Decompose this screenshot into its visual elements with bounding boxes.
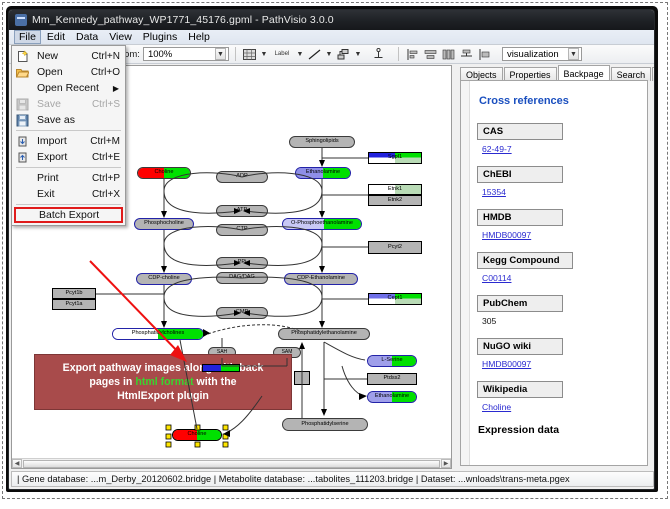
file-menu-exit-accel: Ctrl+X <box>92 189 120 200</box>
node-sphingolipids[interactable]: Sphingolipids <box>289 136 355 148</box>
xref-header-chebi: ChEBI <box>477 166 563 183</box>
xref-value-pubchem: 305 <box>482 316 639 326</box>
tab-objects[interactable]: Objects <box>460 67 503 81</box>
pathvisio-icon <box>15 14 27 26</box>
node-ethanolamine[interactable]: Ethanolamine <box>295 167 351 179</box>
export-icon <box>16 151 29 164</box>
xref-header-hmdb: HMDB <box>477 209 563 226</box>
file-menu-open-recent-label: Open Recent <box>37 82 99 94</box>
file-menu-save-as[interactable]: Save as <box>12 112 125 128</box>
toolbar-separator <box>235 47 236 61</box>
side-panel-tabs: Objects Properties Backpage Search Legen… <box>460 65 655 81</box>
xref-header-nugo: NuGO wiki <box>477 338 563 355</box>
gene-etnk1[interactable]: Etnk1 <box>368 184 422 195</box>
file-menu-open-accel: Ctrl+O <box>91 67 120 78</box>
file-menu-export[interactable]: Export Ctrl+E <box>12 149 125 165</box>
menu-edit[interactable]: Edit <box>42 30 70 44</box>
side-panel: Objects Properties Backpage Search Legen… <box>456 65 654 469</box>
file-menu-import-label: Import <box>37 135 67 147</box>
canvas-horizontal-scrollbar[interactable]: ◀ ▶ <box>12 458 451 468</box>
distribute-icon[interactable] <box>441 47 456 62</box>
xref-link-kegg[interactable]: C00114 <box>482 273 511 283</box>
file-menu-new-label: New <box>37 50 58 62</box>
node-label: O-Phosphoethanolamine <box>291 221 353 227</box>
node-phosphocholine[interactable]: Phosphocholine <box>134 218 194 230</box>
backpage-scrollbar[interactable] <box>461 81 470 465</box>
title-bar: Mm_Kennedy_pathway_WP1771_45176.gpml - P… <box>9 10 654 30</box>
file-menu-save: Save Ctrl+S <box>12 96 125 112</box>
file-menu-print-accel: Ctrl+P <box>92 173 120 184</box>
node-label: CTP <box>236 227 247 233</box>
menu-file[interactable]: File <box>14 30 41 44</box>
import-icon <box>16 135 29 148</box>
file-menu-exit-label: Exit <box>37 188 55 200</box>
file-menu-open[interactable]: Open Ctrl+O <box>12 64 125 80</box>
file-menu-batch-export-label: Batch Export <box>39 209 99 221</box>
node-o-phosphoethanolamine[interactable]: O-Phosphoethanolamine <box>282 218 362 230</box>
expression-data-heading: Expression data <box>478 424 639 436</box>
anchor-tool-icon[interactable] <box>371 47 386 62</box>
annotation-callout: Export pathway images along with back pa… <box>34 354 292 410</box>
menu-plugins[interactable]: Plugins <box>138 30 182 44</box>
gene-pcyt1a[interactable]: Pcyt1a <box>52 299 96 310</box>
menu-data[interactable]: Data <box>71 30 103 44</box>
file-menu-import[interactable]: Import Ctrl+M <box>12 133 125 149</box>
interaction-tool-dropdown[interactable]: ▼ <box>354 51 362 58</box>
stack-icon[interactable] <box>459 47 474 62</box>
file-menu-export-label: Export <box>37 151 67 163</box>
xref-link-cas[interactable]: 62-49-7 <box>482 144 512 154</box>
callout-line2-a: pages in <box>89 376 135 388</box>
node-ethanolamine-2[interactable]: Ethanolamine <box>367 391 417 403</box>
backpage-content: Cross references CAS 62-49-7 ChEBI 15354… <box>471 81 647 465</box>
gene-label: Pcyt1b <box>65 291 82 297</box>
menu-bar: File Edit Data View Plugins Help <box>9 30 654 45</box>
file-menu-new-accel: Ctrl+N <box>91 51 120 62</box>
tab-search[interactable]: Search <box>611 67 652 81</box>
node-label: DAG/DAG <box>229 275 255 281</box>
file-menu-separator-2 <box>16 167 121 168</box>
node-dag[interactable]: DAG/DAG <box>216 272 268 284</box>
align-center-icon[interactable] <box>423 47 438 62</box>
line-tool-dropdown[interactable]: ▼ <box>325 51 333 58</box>
callout-line3: HtmlExport plugin <box>117 390 209 402</box>
node-cmp[interactable]: CMP <box>216 307 268 319</box>
gene-label: Etnk2 <box>388 198 402 204</box>
file-menu-separator-1 <box>16 130 121 131</box>
new-file-icon <box>16 50 29 63</box>
zoom-combobox[interactable]: 100% ▼ <box>143 47 229 61</box>
menu-view[interactable]: View <box>104 30 137 44</box>
file-menu-save-accel: Ctrl+S <box>92 99 120 110</box>
zoom-value: 100% <box>148 49 172 60</box>
tab-backpage[interactable]: Backpage <box>558 65 610 81</box>
file-menu-save-as-label: Save as <box>37 114 75 126</box>
order-icon[interactable] <box>477 47 492 62</box>
node-cdp-choline[interactable]: CDP-choline <box>136 273 192 285</box>
chevron-right-icon: ▶ <box>113 84 119 93</box>
status-bar: | Gene database: ...m_Derby_20120602.bri… <box>11 471 654 487</box>
file-menu-export-accel: Ctrl+E <box>92 152 120 163</box>
cross-references-heading: Cross references <box>479 95 639 107</box>
gene-ptdss2[interactable]: Ptdss2 <box>367 373 417 385</box>
pathvisio-window: Mm_Kennedy_pathway_WP1771_45176.gpml - P… <box>8 9 655 490</box>
node-ppi[interactable]: PPi <box>216 257 268 269</box>
label-tool-dropdown[interactable]: ▼ <box>296 51 304 58</box>
node-label: Ethanolamine <box>375 394 409 400</box>
file-menu-separator-3 <box>16 204 121 205</box>
scroll-left-icon[interactable]: ◀ <box>12 459 22 468</box>
xref-link-nugo[interactable]: HMDB00097 <box>482 359 531 369</box>
node-label: PPi <box>238 260 247 266</box>
node-label: Phosphatidylethanolamine <box>291 331 357 337</box>
visualization-value: visualization <box>507 49 559 60</box>
node-label: Sphingolipids <box>305 139 338 145</box>
file-menu-new[interactable]: New Ctrl+N <box>12 48 125 64</box>
node-label: Choline <box>155 170 174 176</box>
gene-label: Cept1 <box>388 296 403 302</box>
node-atp[interactable]: ATP <box>216 205 268 217</box>
shape-tool-dropdown[interactable]: ▼ <box>260 51 268 58</box>
gene-pcyt2[interactable]: Pcyt2 <box>368 241 422 254</box>
node-label: Phosphatidylcholines <box>132 331 185 337</box>
file-menu-print[interactable]: Print Ctrl+P <box>12 170 125 186</box>
xref-value-nugo: HMDB00097 <box>482 359 639 369</box>
node-label: CDP-choline <box>148 276 179 282</box>
tab-legend[interactable]: Legend <box>652 67 655 81</box>
visualization-combobox[interactable]: visualization ▼ <box>502 47 582 61</box>
selection-handles[interactable] <box>165 423 231 449</box>
window-title: Mm_Kennedy_pathway_WP1771_45176.gpml - P… <box>32 14 334 26</box>
scroll-right-icon[interactable]: ▶ <box>441 459 451 468</box>
save-icon <box>16 98 29 111</box>
node-label: Ethanolamine <box>306 170 340 176</box>
file-menu-print-label: Print <box>37 172 59 184</box>
node-label: L-Serine <box>381 358 402 364</box>
tab-properties[interactable]: Properties <box>504 67 557 81</box>
xref-header-wikipedia: Wikipedia <box>477 381 563 398</box>
callout-line2-b: with the <box>194 376 237 388</box>
gene-label: Etnk1 <box>388 187 402 193</box>
node-label: ATP <box>237 208 247 214</box>
node-label: Phosphocholine <box>144 221 184 227</box>
scroll-thumb[interactable] <box>23 460 440 468</box>
xref-link-wikipedia[interactable]: Choline <box>482 402 511 412</box>
xref-header-pubchem: PubChem <box>477 295 563 312</box>
gene-label: Pcyt2 <box>388 245 402 251</box>
save-as-icon <box>16 114 29 127</box>
xref-value-cas: 62-49-7 <box>482 144 639 154</box>
xref-link-hmdb[interactable]: HMDB00097 <box>482 230 531 240</box>
node-label: ADP <box>236 174 248 180</box>
file-menu-batch-export[interactable]: Batch Export <box>14 207 123 223</box>
file-menu-save-label: Save <box>37 98 61 110</box>
node-label: CMP <box>236 310 248 316</box>
xref-value-kegg: C00114 <box>482 273 639 283</box>
xref-value-wikipedia: Choline <box>482 402 639 412</box>
node-label: CDP-Ethanolamine <box>297 276 345 282</box>
node-choline[interactable]: Choline <box>137 167 191 179</box>
file-menu-open-recent[interactable]: Open Recent ▶ <box>12 80 125 96</box>
screenshot-frame: Mm_Kennedy_pathway_WP1771_45176.gpml - P… <box>0 0 670 509</box>
gene-label: Sgpl1 <box>388 155 402 161</box>
gene-etnk2[interactable]: Etnk2 <box>368 195 422 206</box>
node-phosphatidylethanolamine[interactable]: Phosphatidylethanolamine <box>278 328 370 340</box>
gene-sgpl1[interactable]: Sgpl1 <box>368 152 422 164</box>
menu-help[interactable]: Help <box>183 30 215 44</box>
open-folder-icon <box>16 66 29 79</box>
xref-link-chebi[interactable]: 15354 <box>482 187 506 197</box>
chevron-down-icon[interactable]: ▼ <box>215 48 226 60</box>
toolbar-separator-2 <box>398 47 399 61</box>
node-adp[interactable]: ADP <box>216 171 268 183</box>
xref-value-chebi: 15354 <box>482 187 639 197</box>
backpage-panel: Cross references CAS 62-49-7 ChEBI 15354… <box>460 80 648 466</box>
xref-value-hmdb: HMDB00097 <box>482 230 639 240</box>
node-cdp-ethanolamine[interactable]: CDP-Ethanolamine <box>284 273 358 285</box>
xref-header-cas: CAS <box>477 123 563 140</box>
file-menu-open-label: Open <box>37 66 63 78</box>
file-menu-exit[interactable]: Exit Ctrl+X <box>12 186 125 202</box>
node-phosphatidylcholines[interactable]: Phosphatidylcholines <box>112 328 204 340</box>
node-l-serine[interactable]: L-Serine <box>367 355 417 367</box>
node-phosphatidylserine[interactable]: Phosphatidylserine <box>282 418 368 431</box>
align-left-icon[interactable] <box>405 47 420 62</box>
gene-unlabeled-box[interactable] <box>294 371 310 385</box>
callout-highlight: html format <box>135 376 193 388</box>
gene-label: Ptdss2 <box>383 376 400 382</box>
node-ctp[interactable]: CTP <box>216 224 268 236</box>
gene-pcyt1b[interactable]: Pcyt1b <box>52 288 96 299</box>
line-tool-icon[interactable] <box>307 47 322 62</box>
shape-tool-icon[interactable] <box>242 47 257 62</box>
chevron-down-icon-2[interactable]: ▼ <box>568 48 579 60</box>
file-menu-import-accel: Ctrl+M <box>90 136 120 147</box>
xref-header-kegg: Kegg Compound <box>477 252 573 269</box>
gene-label: Pcyt1a <box>65 302 82 308</box>
file-menu-popup[interactable]: New Ctrl+N Open Ctrl+O Open Recent ▶ Sav… <box>11 45 126 226</box>
gene-cept1[interactable]: Cept1 <box>368 293 422 305</box>
node-label: Phosphatidylserine <box>301 422 348 428</box>
interaction-tool-icon[interactable] <box>336 47 351 62</box>
gene-chka[interactable] <box>202 364 240 372</box>
label-tool-icon[interactable]: Label <box>271 47 293 62</box>
status-text: | Gene database: ...m_Derby_20120602.bri… <box>17 474 570 484</box>
